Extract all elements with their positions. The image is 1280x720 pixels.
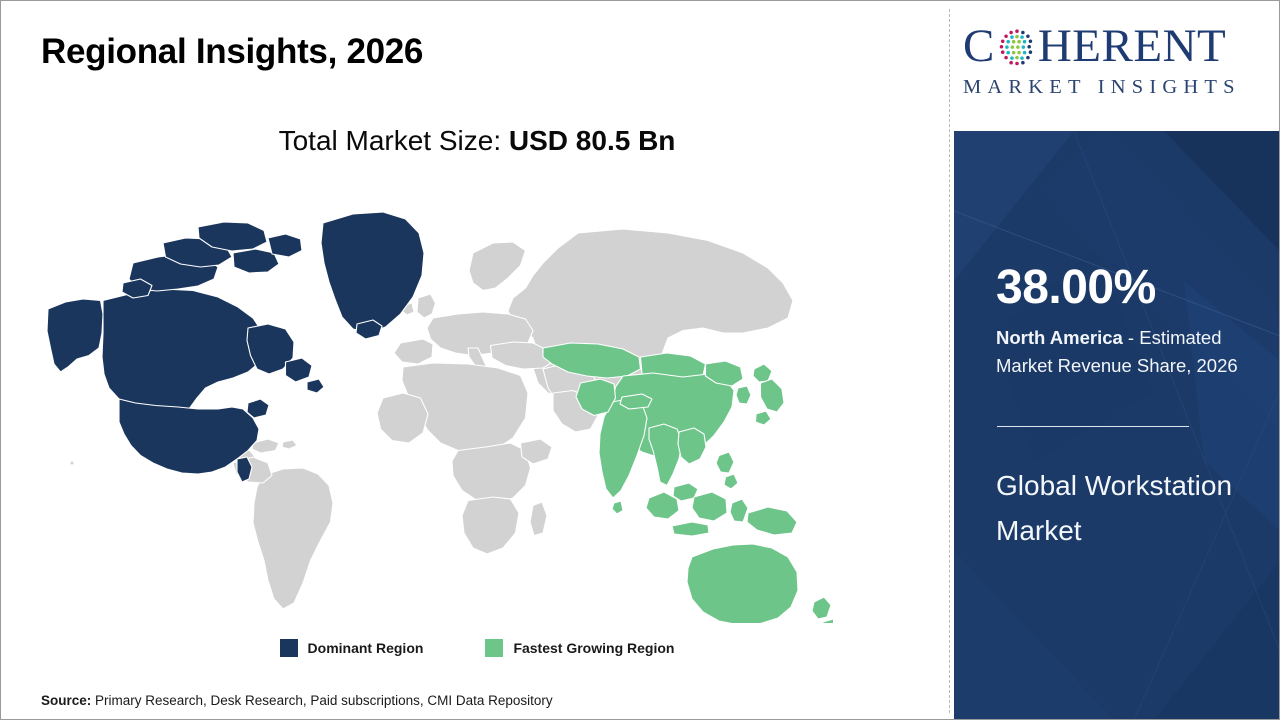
map-region-asia-pacific[interactable] xyxy=(543,343,833,623)
legend-label-dominant: Dominant Region xyxy=(308,640,424,656)
logo-letters-herent: HERENT xyxy=(1038,23,1226,70)
legend-swatch-fastest xyxy=(485,639,503,657)
map-legend: Dominant Region Fastest Growing Region xyxy=(41,639,913,657)
legend-swatch-dominant xyxy=(280,639,298,657)
panel-divider xyxy=(997,426,1189,427)
logo-wordmark: C xyxy=(963,19,1269,73)
vertical-divider xyxy=(949,9,950,713)
source-note: Source: Primary Research, Desk Research,… xyxy=(41,693,553,708)
total-market-size: Total Market Size: USD 80.5 Bn xyxy=(41,125,913,157)
source-label: Source: xyxy=(41,693,91,708)
panel-content: 38.00% North America - Estimated Market … xyxy=(996,131,1264,720)
coherent-market-insights-logo[interactable]: C xyxy=(963,19,1269,111)
legend-item-dominant-region: Dominant Region xyxy=(280,639,424,657)
market-size-label: Total Market Size: xyxy=(279,125,509,156)
world-map-svg xyxy=(33,183,833,623)
stat-caption-region: North America xyxy=(996,327,1123,348)
map-region-north-america[interactable] xyxy=(47,212,424,482)
logo-tagline: MARKET INSIGHTS xyxy=(963,76,1269,99)
page-title: Regional Insights, 2026 xyxy=(41,32,423,72)
source-text: Primary Research, Desk Research, Paid su… xyxy=(91,693,552,708)
market-name: Global Workstation Market xyxy=(996,463,1246,554)
globe-dots-icon xyxy=(996,27,1038,69)
legend-label-fastest: Fastest Growing Region xyxy=(513,640,674,656)
infographic-page: Regional Insights, 2026 Total Market Siz… xyxy=(0,0,1280,720)
globe-dots-svg xyxy=(996,27,1038,69)
side-stat-panel: 38.00% North America - Estimated Market … xyxy=(954,131,1280,720)
stat-caption: North America - Estimated Market Revenue… xyxy=(996,324,1264,380)
market-size-value: USD 80.5 Bn xyxy=(509,125,676,156)
stat-percentage: 38.00% xyxy=(996,264,1156,312)
legend-item-fastest-growing-region: Fastest Growing Region xyxy=(485,639,674,657)
logo-letter-c: C xyxy=(963,23,995,70)
world-map xyxy=(33,183,833,623)
